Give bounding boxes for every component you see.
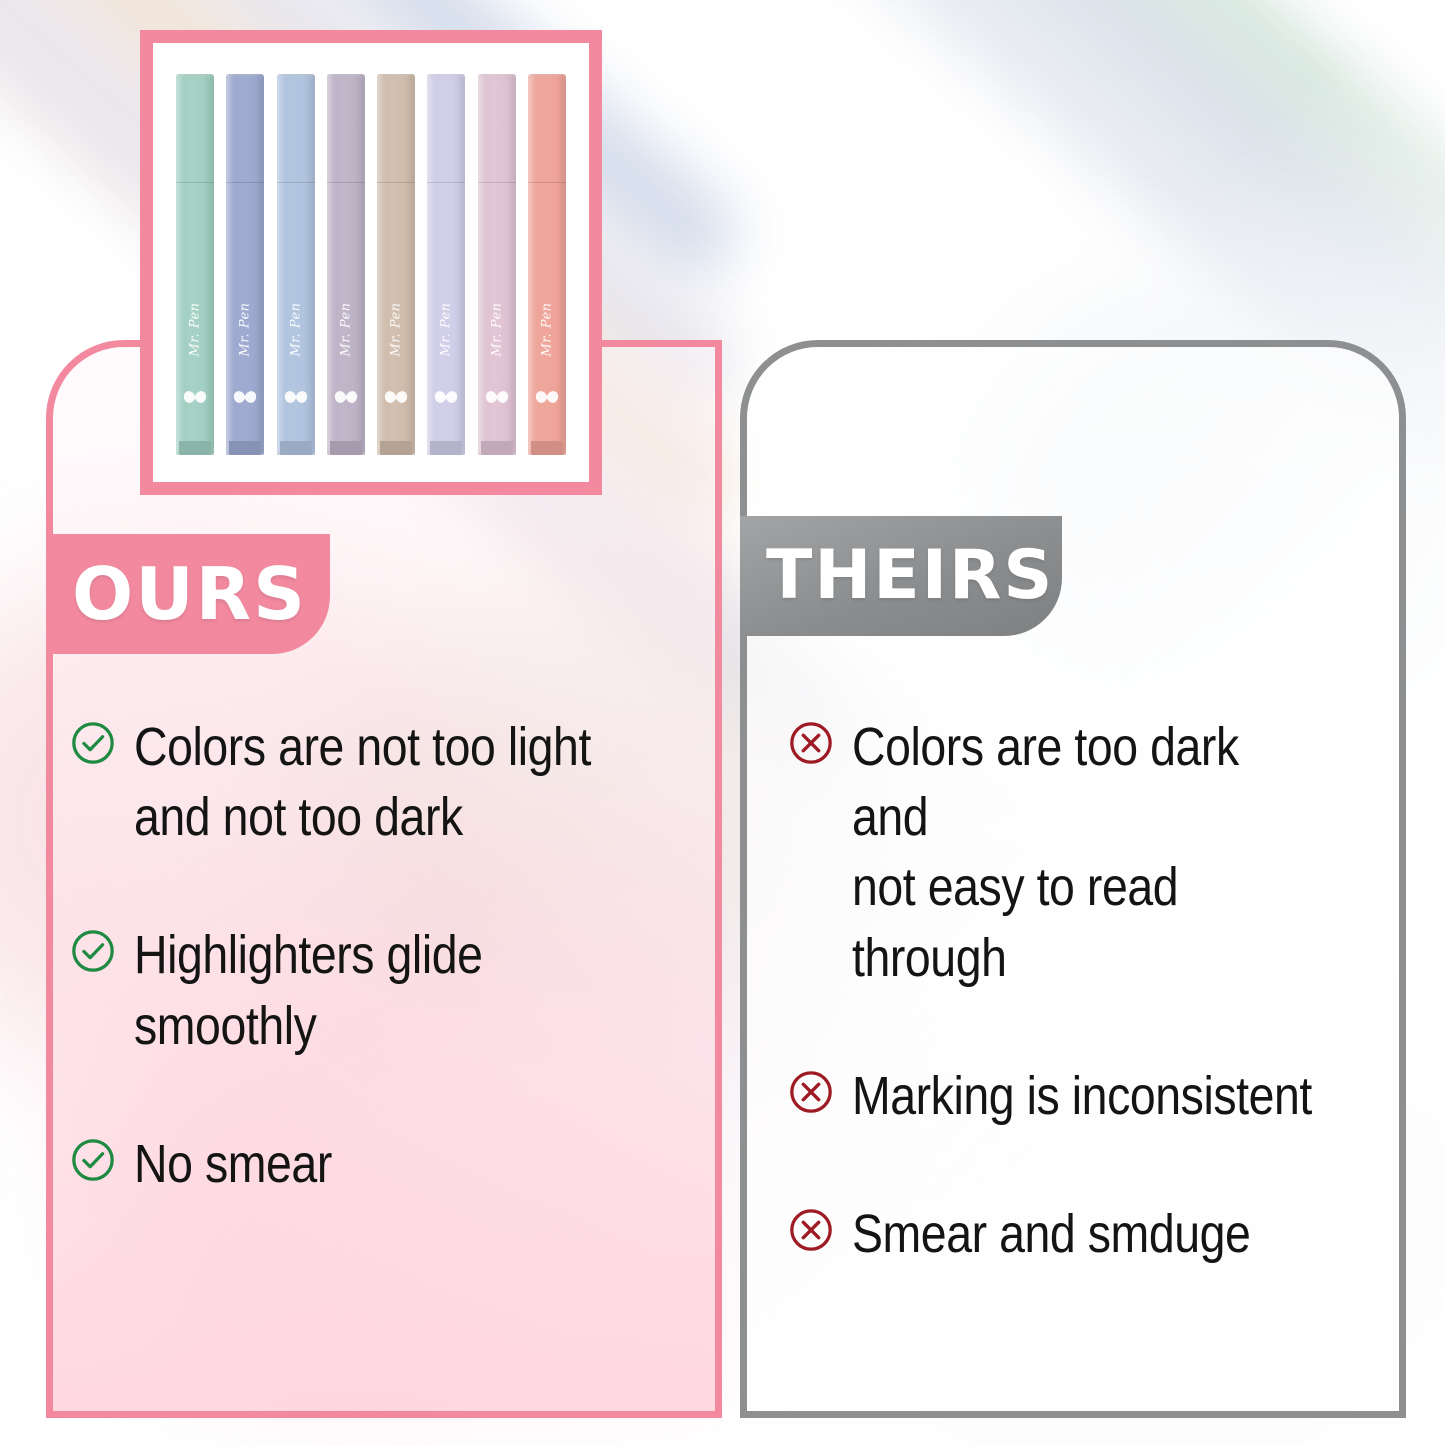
pen-brand-label: Mr. Pen: [238, 302, 253, 356]
mustache-icon: [383, 389, 409, 407]
highlighter-set-photo: Mr. PenMr. PenMr. PenMr. PenMr. PenMr. P…: [162, 52, 580, 473]
list-item: Colors are too dark and not easy to read…: [788, 712, 1388, 993]
x-circle-icon: [788, 1207, 834, 1253]
pen-cap-seam: [427, 182, 465, 183]
highlighter-pen-tan-beige: Mr. Pen: [377, 74, 415, 455]
mustache-icon: [333, 389, 359, 407]
list-item: Highlighters glide smoothly: [70, 920, 670, 1060]
pen-base: [481, 441, 513, 455]
list-item-label: Colors are too dark and not easy to read…: [852, 712, 1313, 993]
check-circle-icon: [70, 928, 116, 974]
pen-brand-label: Mr. Pen: [489, 302, 504, 356]
mustache-icon: [182, 389, 208, 407]
pen-cap-seam: [176, 182, 214, 183]
pen-cap-seam: [226, 182, 264, 183]
theirs-banner-label: THEIRS: [766, 542, 1054, 610]
highlighter-pen-mint-green: Mr. Pen: [176, 74, 214, 455]
highlighter-pen-mauve-lilac: Mr. Pen: [327, 74, 365, 455]
highlighter-pen-light-blue: Mr. Pen: [277, 74, 315, 455]
list-item-label: Highlighters glide smoothly: [134, 920, 483, 1060]
mustache-icon: [283, 389, 309, 407]
mustache-icon: [534, 389, 560, 407]
list-item: Marking is inconsistent: [788, 1061, 1388, 1131]
pen-brand-label: Mr. Pen: [188, 302, 203, 356]
list-item: Smear and smduge: [788, 1199, 1388, 1269]
pen-base: [380, 441, 412, 455]
ours-banner-label: OURS: [72, 558, 307, 630]
pen-base: [330, 441, 362, 455]
pen-cap-seam: [528, 182, 566, 183]
theirs-banner: THEIRS: [740, 516, 1062, 636]
product-photo-frame: Mr. PenMr. PenMr. PenMr. PenMr. PenMr. P…: [140, 30, 602, 495]
list-item-label: Marking is inconsistent: [852, 1061, 1312, 1131]
list-item: Colors are not too light and not too dar…: [70, 712, 670, 852]
pen-brand-label: Mr. Pen: [288, 302, 303, 356]
pen-cap-seam: [377, 182, 415, 183]
ours-feature-list: Colors are not too light and not too dar…: [70, 712, 670, 1267]
pen-brand-label: Mr. Pen: [439, 302, 454, 356]
pen-base: [280, 441, 312, 455]
ours-banner: OURS: [46, 534, 330, 654]
list-item-label: Smear and smduge: [852, 1199, 1250, 1269]
pen-cap-seam: [327, 182, 365, 183]
pen-brand-label: Mr. Pen: [338, 302, 353, 356]
pen-cap-seam: [478, 182, 516, 183]
x-circle-icon: [788, 1069, 834, 1115]
list-item-label: Colors are not too light and not too dar…: [134, 712, 591, 852]
highlighter-pen-lavender: Mr. Pen: [427, 74, 465, 455]
highlighter-pen-soft-pink: Mr. Pen: [478, 74, 516, 455]
highlighter-pen-periwinkle-blue: Mr. Pen: [226, 74, 264, 455]
pen-base: [430, 441, 462, 455]
list-item: No smear: [70, 1129, 670, 1199]
pen-base: [179, 441, 211, 455]
pen-base: [531, 441, 563, 455]
mustache-icon: [484, 389, 510, 407]
highlighter-pen-salmon-coral: Mr. Pen: [528, 74, 566, 455]
comparison-infographic: OURS THEIRS Colors are not too light and…: [0, 0, 1445, 1446]
pen-cap-seam: [277, 182, 315, 183]
mustache-icon: [232, 389, 258, 407]
pen-brand-label: Mr. Pen: [389, 302, 404, 356]
mustache-icon: [433, 389, 459, 407]
theirs-feature-list: Colors are too dark and not easy to read…: [788, 712, 1388, 1337]
check-circle-icon: [70, 720, 116, 766]
check-circle-icon: [70, 1137, 116, 1183]
list-item-label: No smear: [134, 1129, 332, 1199]
pen-brand-label: Mr. Pen: [539, 302, 554, 356]
x-circle-icon: [788, 720, 834, 766]
pen-base: [229, 441, 261, 455]
